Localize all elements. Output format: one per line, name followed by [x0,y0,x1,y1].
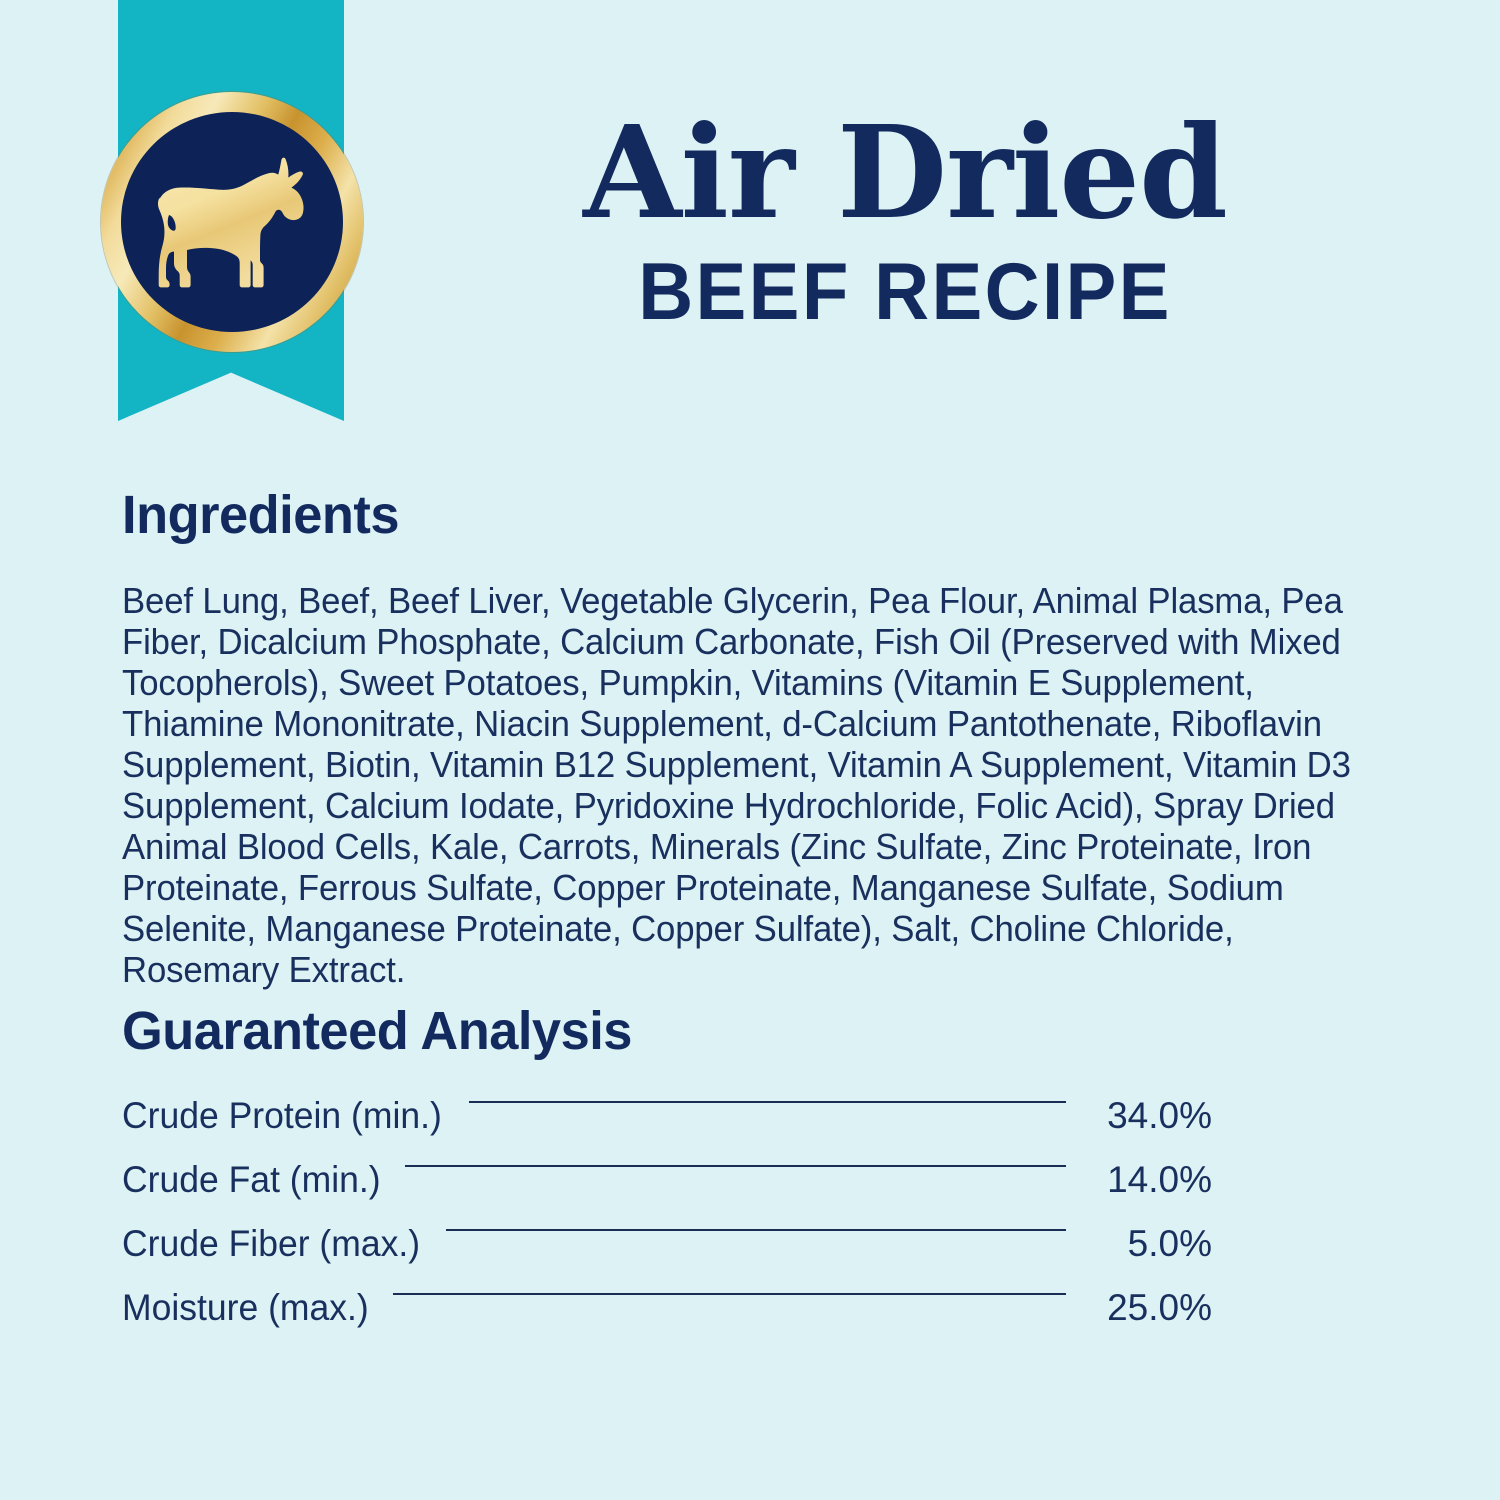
analysis-row: Crude Protein (min.)34.0% [122,1074,1212,1128]
analysis-leader-line [446,1202,1066,1256]
bull-badge [101,92,363,352]
analysis-row: Moisture (max.)25.0% [122,1266,1212,1320]
brand-ribbon [118,0,344,421]
bull-icon [148,153,320,293]
analysis-label: Crude Fat (min.) [122,1153,381,1207]
page-title: Air Dried [390,108,1420,238]
analysis-label: Moisture (max.) [122,1281,369,1335]
analysis-value: 14.0% [1080,1153,1212,1207]
analysis-leader-line [405,1138,1066,1192]
ingredients-section: Ingredients Beef Lung, Beef, Beef Liver,… [122,487,1392,1026]
badge-inner-disc [121,112,343,332]
guaranteed-analysis-heading: Guaranteed Analysis [122,1003,1354,1060]
analysis-value: 34.0% [1080,1089,1212,1143]
analysis-value: 25.0% [1080,1281,1212,1335]
ingredients-text: Beef Lung, Beef, Beef Liver, Vegetable G… [122,580,1392,990]
analysis-leader-line [393,1266,1066,1320]
analysis-leader-line [469,1074,1066,1128]
product-label-page: Air Dried BEEF RECIPE Ingredients Beef L… [0,0,1500,1500]
page-subtitle: BEEF RECIPE [421,252,1389,333]
analysis-row: Crude Fiber (max.)5.0% [122,1202,1212,1256]
guaranteed-analysis-list: Crude Protein (min.)34.0%Crude Fat (min.… [122,1074,1212,1320]
analysis-row: Crude Fat (min.)14.0% [122,1138,1212,1192]
analysis-label: Crude Protein (min.) [122,1089,442,1143]
analysis-value: 5.0% [1080,1217,1212,1271]
analysis-label: Crude Fiber (max.) [122,1217,420,1271]
product-title-block: Air Dried BEEF RECIPE [390,108,1420,333]
guaranteed-analysis-section: Guaranteed Analysis Crude Protein (min.)… [122,1003,1392,1330]
ingredients-heading: Ingredients [122,487,1354,544]
